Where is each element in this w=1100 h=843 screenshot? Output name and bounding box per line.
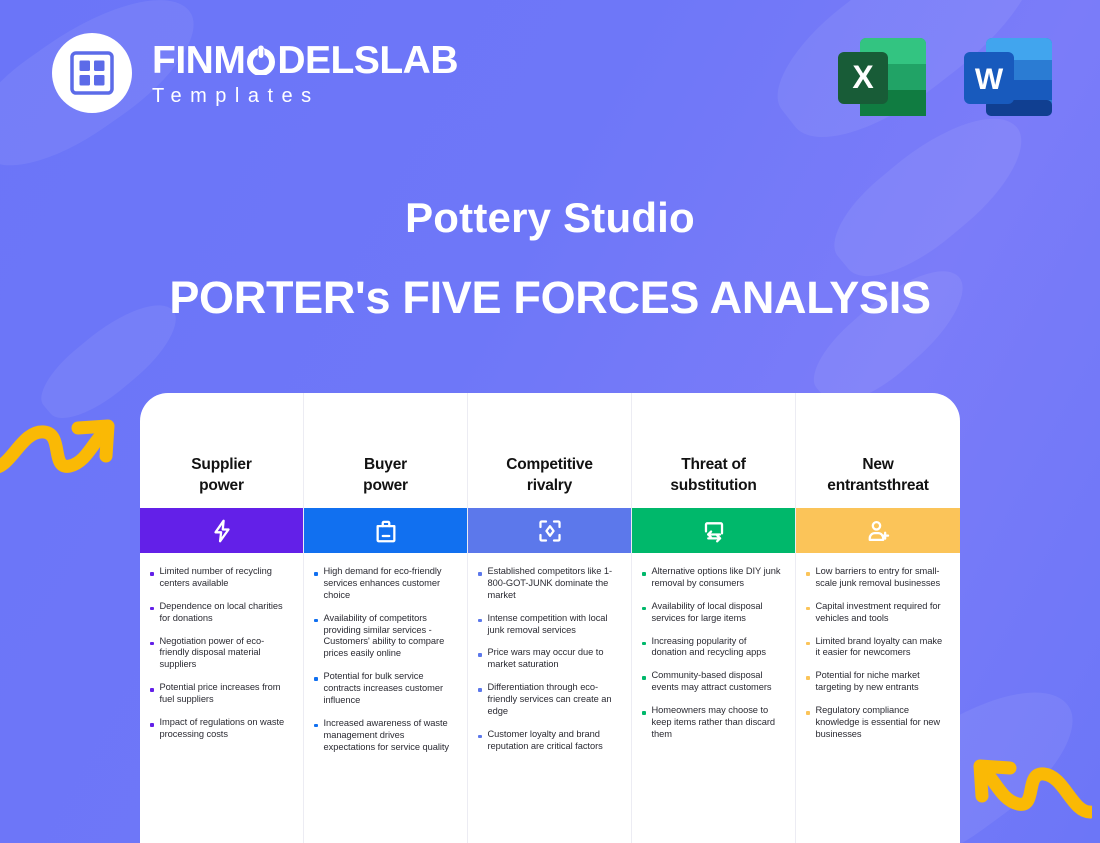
bullet-dot-icon <box>314 677 318 681</box>
squiggle-arrow-up-right-icon <box>0 404 122 487</box>
force-bullet-list: Limited number of recycling centers avai… <box>140 553 303 843</box>
bullet-dot-icon <box>806 572 810 576</box>
force-bullet-item: Established competitors like 1-800-GOT-J… <box>478 566 619 602</box>
force-column-header-text: Buyerpower <box>363 455 408 496</box>
header-line-1: Threat of <box>670 455 756 475</box>
force-bullet-text: Limited brand loyalty can make it easier… <box>816 636 949 660</box>
force-bullet-item: Differentiation through eco-friendly ser… <box>478 682 619 718</box>
force-bullet-text: Dependence on local charities for donati… <box>160 601 292 625</box>
force-icon-band <box>632 508 795 553</box>
force-bullet-list: Low barriers to entry for small-scale ju… <box>796 553 960 843</box>
page-subtitle: PORTER's FIVE FORCES ANALYSIS <box>0 273 1100 323</box>
force-column-header: Supplierpower <box>140 393 303 508</box>
five-forces-card: SupplierpowerLimited number of recycling… <box>140 393 960 843</box>
bullet-dot-icon <box>150 688 154 692</box>
force-bullet-text: Intense competition with local junk remo… <box>488 613 620 637</box>
force-bullet-text: Homeowners may choose to keep items rath… <box>652 705 784 741</box>
bullet-dot-icon <box>150 723 154 727</box>
force-bullet-item: Potential for niche market targeting by … <box>806 670 948 694</box>
bullet-dot-icon <box>478 653 482 657</box>
title-block: Pottery Studio PORTER's FIVE FORCES ANAL… <box>0 195 1100 323</box>
force-bullet-text: Availability of competitors providing si… <box>324 613 456 661</box>
force-bullet-text: Community-based disposal events may attr… <box>652 670 784 694</box>
bullet-dot-icon <box>314 724 318 728</box>
header-line-1: Buyer <box>363 455 408 475</box>
header-line-2: entrantsthreat <box>827 476 928 496</box>
bullet-dot-icon <box>642 642 646 646</box>
page-title: Pottery Studio <box>0 195 1100 241</box>
force-bullet-text: Potential for niche market targeting by … <box>816 670 949 694</box>
force-bullet-text: Potential for bulk service contracts inc… <box>324 671 456 707</box>
squiggle-arrow-down-left-icon <box>960 742 1092 829</box>
header-line-1: Supplier <box>191 455 251 475</box>
bullet-dot-icon <box>150 607 154 611</box>
force-bullet-text: Low barriers to entry for small-scale ju… <box>816 566 949 590</box>
force-bullet-item: Customer loyalty and brand reputation ar… <box>478 729 619 753</box>
force-icon-band <box>468 508 631 553</box>
svg-text:X: X <box>852 59 874 95</box>
force-column: Threat ofsubstitution Alternative option… <box>632 393 796 843</box>
force-column-header: Competitiverivalry <box>468 393 631 508</box>
header-line-2: rivalry <box>506 476 593 496</box>
force-column-header-text: Competitiverivalry <box>506 455 593 496</box>
force-bullet-text: Capital investment required for vehicles… <box>816 601 949 625</box>
force-bullet-item: Low barriers to entry for small-scale ju… <box>806 566 948 590</box>
grid-squares-icon <box>70 51 114 95</box>
force-column: Buyerpower High demand for eco-friendly … <box>304 393 468 843</box>
header-bar: FINM DELSLAB Templates <box>0 0 1100 150</box>
bullet-dot-icon <box>806 676 810 680</box>
force-bullet-list: Alternative options like DIY junk remova… <box>632 553 795 843</box>
force-bullet-list: High demand for eco-friendly services en… <box>304 553 467 843</box>
bullet-dot-icon <box>642 711 646 715</box>
force-bullet-item: Potential for bulk service contracts inc… <box>314 671 455 707</box>
force-bullet-text: Price wars may occur due to market satur… <box>488 647 620 671</box>
force-bullet-item: Impact of regulations on waste processin… <box>150 717 291 741</box>
logo-wordmark: FINM DELSLAB Templates <box>152 41 458 106</box>
force-bullet-item: Limited brand loyalty can make it easier… <box>806 636 948 660</box>
logo-circle <box>52 33 132 113</box>
header-line-1: Competitive <box>506 455 593 475</box>
word-icon[interactable]: W <box>960 32 1058 122</box>
force-column-header-text: Supplierpower <box>191 455 251 496</box>
brand-logo[interactable]: FINM DELSLAB Templates <box>52 33 458 113</box>
force-bullet-text: Differentiation through eco-friendly ser… <box>488 682 620 718</box>
force-bullet-item: Negotiation power of eco-friendly dispos… <box>150 636 291 672</box>
five-forces-grid: SupplierpowerLimited number of recycling… <box>140 393 960 843</box>
svg-text:W: W <box>975 63 1004 96</box>
person-add-icon <box>865 518 891 544</box>
force-bullet-item: Increased awareness of waste management … <box>314 718 455 754</box>
force-bullet-text: Availability of local disposal services … <box>652 601 784 625</box>
force-bullet-text: Impact of regulations on waste processin… <box>160 717 292 741</box>
header-line-2: substitution <box>670 476 756 496</box>
force-bullet-item: Price wars may occur due to market satur… <box>478 647 619 671</box>
brand-name-part2: DELSLAB <box>277 41 458 80</box>
bullet-dot-icon <box>642 607 646 611</box>
force-bullet-item: Intense competition with local junk remo… <box>478 613 619 637</box>
power-symbol-o-icon <box>246 45 276 75</box>
shopping-bag-icon <box>373 518 399 544</box>
force-bullet-text: Customer loyalty and brand reputation ar… <box>488 729 620 753</box>
force-bullet-text: Established competitors like 1-800-GOT-J… <box>488 566 620 602</box>
force-column-header: Buyerpower <box>304 393 467 508</box>
target-focus-icon <box>537 518 563 544</box>
bullet-dot-icon <box>806 607 810 611</box>
force-column: Newentrantsthreat Low barriers to entry … <box>796 393 960 843</box>
force-bullet-text: High demand for eco-friendly services en… <box>324 566 456 602</box>
force-column-header-text: Threat ofsubstitution <box>670 455 756 496</box>
bullet-dot-icon <box>478 688 482 692</box>
force-bullet-text: Alternative options like DIY junk remova… <box>652 566 784 590</box>
bullet-dot-icon <box>806 711 810 715</box>
force-bullet-item: Community-based disposal events may attr… <box>642 670 783 694</box>
bullet-dot-icon <box>478 735 482 739</box>
force-bullet-text: Limited number of recycling centers avai… <box>160 566 292 590</box>
force-bullet-text: Negotiation power of eco-friendly dispos… <box>160 636 292 672</box>
brand-name-part1: FINM <box>152 41 245 80</box>
exchange-arrows-icon <box>701 518 727 544</box>
excel-icon[interactable]: X <box>834 32 932 122</box>
header-line-1: New <box>827 455 928 475</box>
bullet-dot-icon <box>642 676 646 680</box>
force-bullet-text: Regulatory compliance knowledge is essen… <box>816 705 949 741</box>
force-bullet-item: Increasing popularity of donation and re… <box>642 636 783 660</box>
force-column-header: Newentrantsthreat <box>796 393 960 508</box>
bullet-dot-icon <box>314 572 318 576</box>
bullet-dot-icon <box>642 572 646 576</box>
bullet-dot-icon <box>314 619 318 623</box>
force-icon-band <box>140 508 303 553</box>
bullet-dot-icon <box>150 642 154 646</box>
bullet-dot-icon <box>806 642 810 646</box>
force-bullet-item: Limited number of recycling centers avai… <box>150 566 291 590</box>
header-line-2: power <box>363 476 408 496</box>
force-bullet-text: Increased awareness of waste management … <box>324 718 456 754</box>
force-bullet-list: Established competitors like 1-800-GOT-J… <box>468 553 631 843</box>
force-icon-band <box>304 508 467 553</box>
force-bullet-text: Potential price increases from fuel supp… <box>160 682 292 706</box>
office-app-icons: X W <box>834 32 1058 122</box>
porters-five-forces-infographic: FINM DELSLAB Templates <box>0 0 1100 843</box>
force-bullet-item: Alternative options like DIY junk remova… <box>642 566 783 590</box>
force-bullet-text: Increasing popularity of donation and re… <box>652 636 784 660</box>
brand-tagline: Templates <box>152 86 458 106</box>
force-bullet-item: High demand for eco-friendly services en… <box>314 566 455 602</box>
force-column: SupplierpowerLimited number of recycling… <box>140 393 304 843</box>
force-column-header: Threat ofsubstitution <box>632 393 795 508</box>
lightning-bolt-icon <box>209 518 235 544</box>
force-bullet-item: Regulatory compliance knowledge is essen… <box>806 705 948 741</box>
bullet-dot-icon <box>478 619 482 623</box>
force-bullet-item: Homeowners may choose to keep items rath… <box>642 705 783 741</box>
force-column: Competitiverivalry Established competito… <box>468 393 632 843</box>
force-bullet-item: Capital investment required for vehicles… <box>806 601 948 625</box>
header-line-2: power <box>191 476 251 496</box>
force-column-header-text: Newentrantsthreat <box>827 455 928 496</box>
bullet-dot-icon <box>150 572 154 576</box>
force-bullet-item: Dependence on local charities for donati… <box>150 601 291 625</box>
bullet-dot-icon <box>478 572 482 576</box>
force-bullet-item: Availability of competitors providing si… <box>314 613 455 661</box>
force-bullet-item: Potential price increases from fuel supp… <box>150 682 291 706</box>
force-icon-band <box>796 508 960 553</box>
brand-name: FINM DELSLAB <box>152 41 458 80</box>
force-bullet-item: Availability of local disposal services … <box>642 601 783 625</box>
